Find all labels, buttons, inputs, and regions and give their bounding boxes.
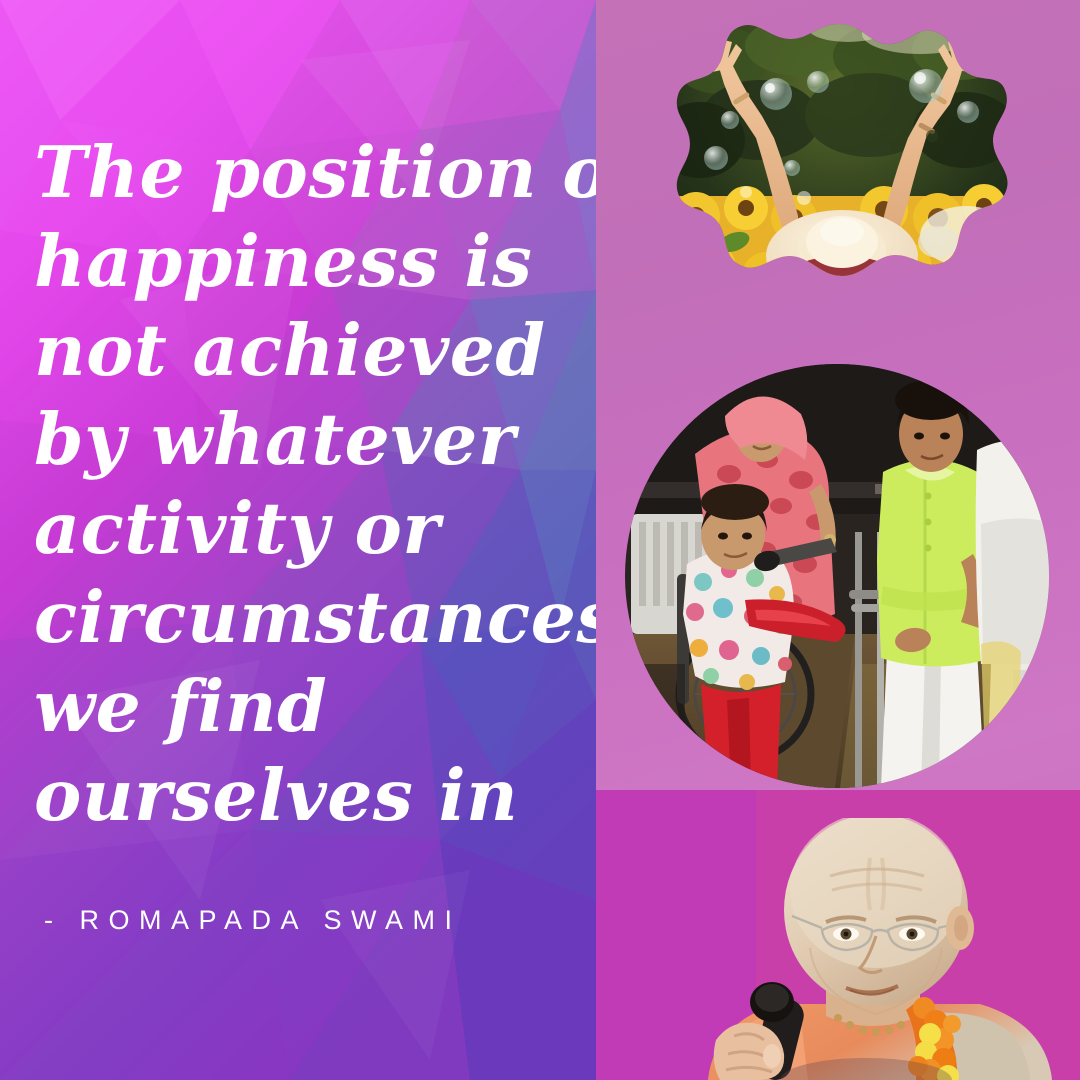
poster-canvas: The position of happiness is not achieve… xyxy=(0,0,1080,1080)
photo-wheelchair-woman-at-microphone xyxy=(625,364,1049,788)
quote-line: activity or xyxy=(34,484,590,573)
photo-woman-in-sunflower-field xyxy=(670,20,1010,342)
quote-line: by whatever xyxy=(34,395,590,484)
quote-line: The position of xyxy=(34,128,590,217)
quote-text: The position of happiness is not achieve… xyxy=(34,128,590,840)
left-quote-panel: The position of happiness is not achieve… xyxy=(0,0,596,1080)
quote-line: circumstances xyxy=(34,573,590,662)
quote-attribution: - ROMAPADA SWAMI xyxy=(44,905,462,936)
quote-line: not achieved xyxy=(34,306,590,395)
photo-romapada-swami-portrait xyxy=(680,818,1080,1080)
quote-line: we find xyxy=(34,662,590,751)
right-photo-panel xyxy=(596,0,1080,1080)
quote-line: happiness is xyxy=(34,217,590,306)
quote-line: ourselves in xyxy=(34,751,590,840)
